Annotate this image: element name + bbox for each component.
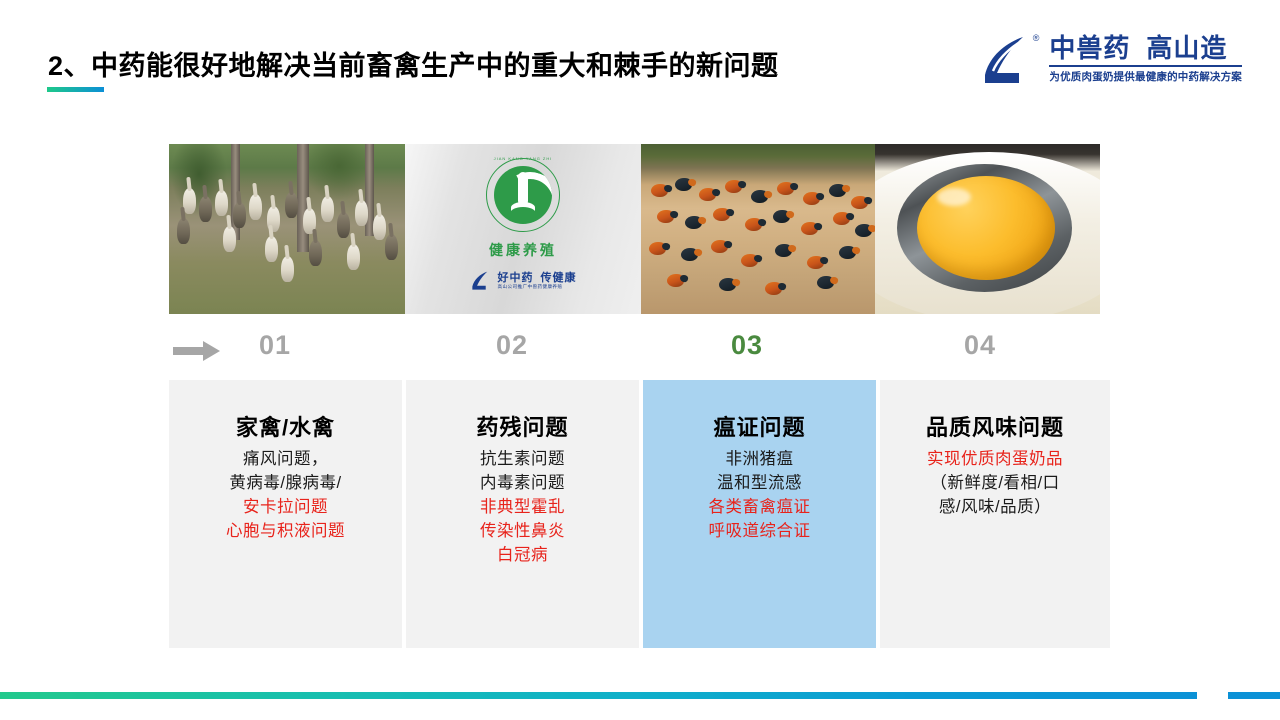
card-line: 非洲猪瘟 bbox=[643, 448, 876, 472]
problem-card-row: 家禽/水禽 痛风问题， 黄病毒/腺病毒/ 安卡拉问题 心胞与积液问题 药残问题 … bbox=[169, 380, 1110, 648]
step-number-01[interactable]: 01 bbox=[259, 330, 291, 361]
geese-flock-photo bbox=[169, 144, 405, 314]
emblem-footer-right: 传健康 bbox=[541, 272, 577, 284]
brand-name-right: 高山造 bbox=[1146, 33, 1227, 63]
card-quality-flavor[interactable]: 品质风味问题 实现优质肉蛋奶品 （新鲜度/看相/口 感/风味/品质） bbox=[880, 380, 1110, 648]
photo-strip: JIAN KANG YANG ZHI 健康养殖 好中药传健康 高山公司推广中兽药… bbox=[169, 144, 1100, 314]
card-title: 品质风味问题 bbox=[880, 410, 1110, 442]
brand-name-left: 中兽药 bbox=[1049, 33, 1130, 63]
healthy-farming-emblem: JIAN KANG YANG ZHI 健康养殖 bbox=[405, 158, 641, 260]
card-line: 内毒素问题 bbox=[406, 472, 639, 496]
emblem-footer: 好中药传健康 高山公司推广中兽药健康养殖 bbox=[405, 270, 641, 292]
card-line: 温和型流感 bbox=[643, 472, 876, 496]
card-line: 各类畜禽瘟证 bbox=[643, 496, 876, 520]
brand-name: 中兽药高山造 bbox=[1049, 35, 1242, 62]
emblem-label: 健康养殖 bbox=[489, 240, 557, 260]
card-plague-syndrome[interactable]: 瘟证问题 非洲猪瘟 温和型流感 各类畜禽瘟证 呼吸道综合证 bbox=[643, 380, 876, 648]
emblem-footer-sub: 高山公司推广中兽药健康养殖 bbox=[498, 284, 577, 290]
footer-gradient-bar bbox=[0, 692, 1197, 699]
card-line: 心胞与积液问题 bbox=[169, 520, 402, 544]
card-line: 白冠病 bbox=[406, 544, 639, 568]
card-line: 痛风问题， bbox=[169, 448, 402, 472]
card-line: 抗生素问题 bbox=[406, 448, 639, 472]
card-title: 家禽/水禽 bbox=[169, 410, 402, 442]
brand-logo: ® 中兽药高山造 为优质肉蛋奶提供最健康的中药解决方案 bbox=[979, 33, 1242, 89]
healthy-farming-logo-photo: JIAN KANG YANG ZHI 健康养殖 好中药传健康 高山公司推广中兽药… bbox=[405, 144, 641, 314]
card-line: 呼吸道综合证 bbox=[643, 520, 876, 544]
title-accent-underline bbox=[47, 87, 104, 92]
step-number-row: 01 02 03 04 bbox=[169, 330, 1110, 374]
card-line: 感/风味/品质） bbox=[880, 496, 1110, 520]
card-title: 药残问题 bbox=[406, 410, 639, 442]
right-arrow-icon bbox=[173, 340, 221, 367]
card-line: 安卡拉问题 bbox=[169, 496, 402, 520]
gaoshan-swoosh-logo-icon: ® bbox=[979, 33, 1035, 89]
footer-gradient-bar-tail bbox=[1228, 692, 1280, 699]
gaoshan-swoosh-small-icon bbox=[470, 270, 492, 292]
egg-yolk-spoon-photo bbox=[875, 144, 1100, 314]
brand-text-block: 中兽药高山造 为优质肉蛋奶提供最健康的中药解决方案 bbox=[1049, 33, 1242, 84]
card-line: 实现优质肉蛋奶品 bbox=[880, 448, 1110, 472]
card-poultry-waterfowl[interactable]: 家禽/水禽 痛风问题， 黄病毒/腺病毒/ 安卡拉问题 心胞与积液问题 bbox=[169, 380, 402, 648]
step-number-02[interactable]: 02 bbox=[496, 330, 528, 361]
card-drug-residue[interactable]: 药残问题 抗生素问题 内毒素问题 非典型霍乱 传染性鼻炎 白冠病 bbox=[406, 380, 639, 648]
registered-trademark-icon: ® bbox=[1033, 33, 1040, 43]
card-line: 黄病毒/腺病毒/ bbox=[169, 472, 402, 496]
emblem-pinyin-text: JIAN KANG YANG ZHI bbox=[487, 156, 559, 161]
brand-divider bbox=[1049, 65, 1242, 67]
card-line: 非典型霍乱 bbox=[406, 496, 639, 520]
emblem-footer-left: 好中药 bbox=[498, 272, 534, 284]
card-line: 传染性鼻炎 bbox=[406, 520, 639, 544]
card-title: 瘟证问题 bbox=[643, 410, 876, 442]
brand-tagline: 为优质肉蛋奶提供最健康的中药解决方案 bbox=[1049, 69, 1242, 84]
step-number-04[interactable]: 04 bbox=[964, 330, 996, 361]
card-line: （新鲜度/看相/口 bbox=[880, 472, 1110, 496]
free-range-chickens-photo bbox=[641, 144, 875, 314]
step-number-03[interactable]: 03 bbox=[731, 330, 763, 361]
page-title: 2、中药能很好地解决当前畜禽生产中的重大和棘手的新问题 bbox=[48, 44, 779, 83]
